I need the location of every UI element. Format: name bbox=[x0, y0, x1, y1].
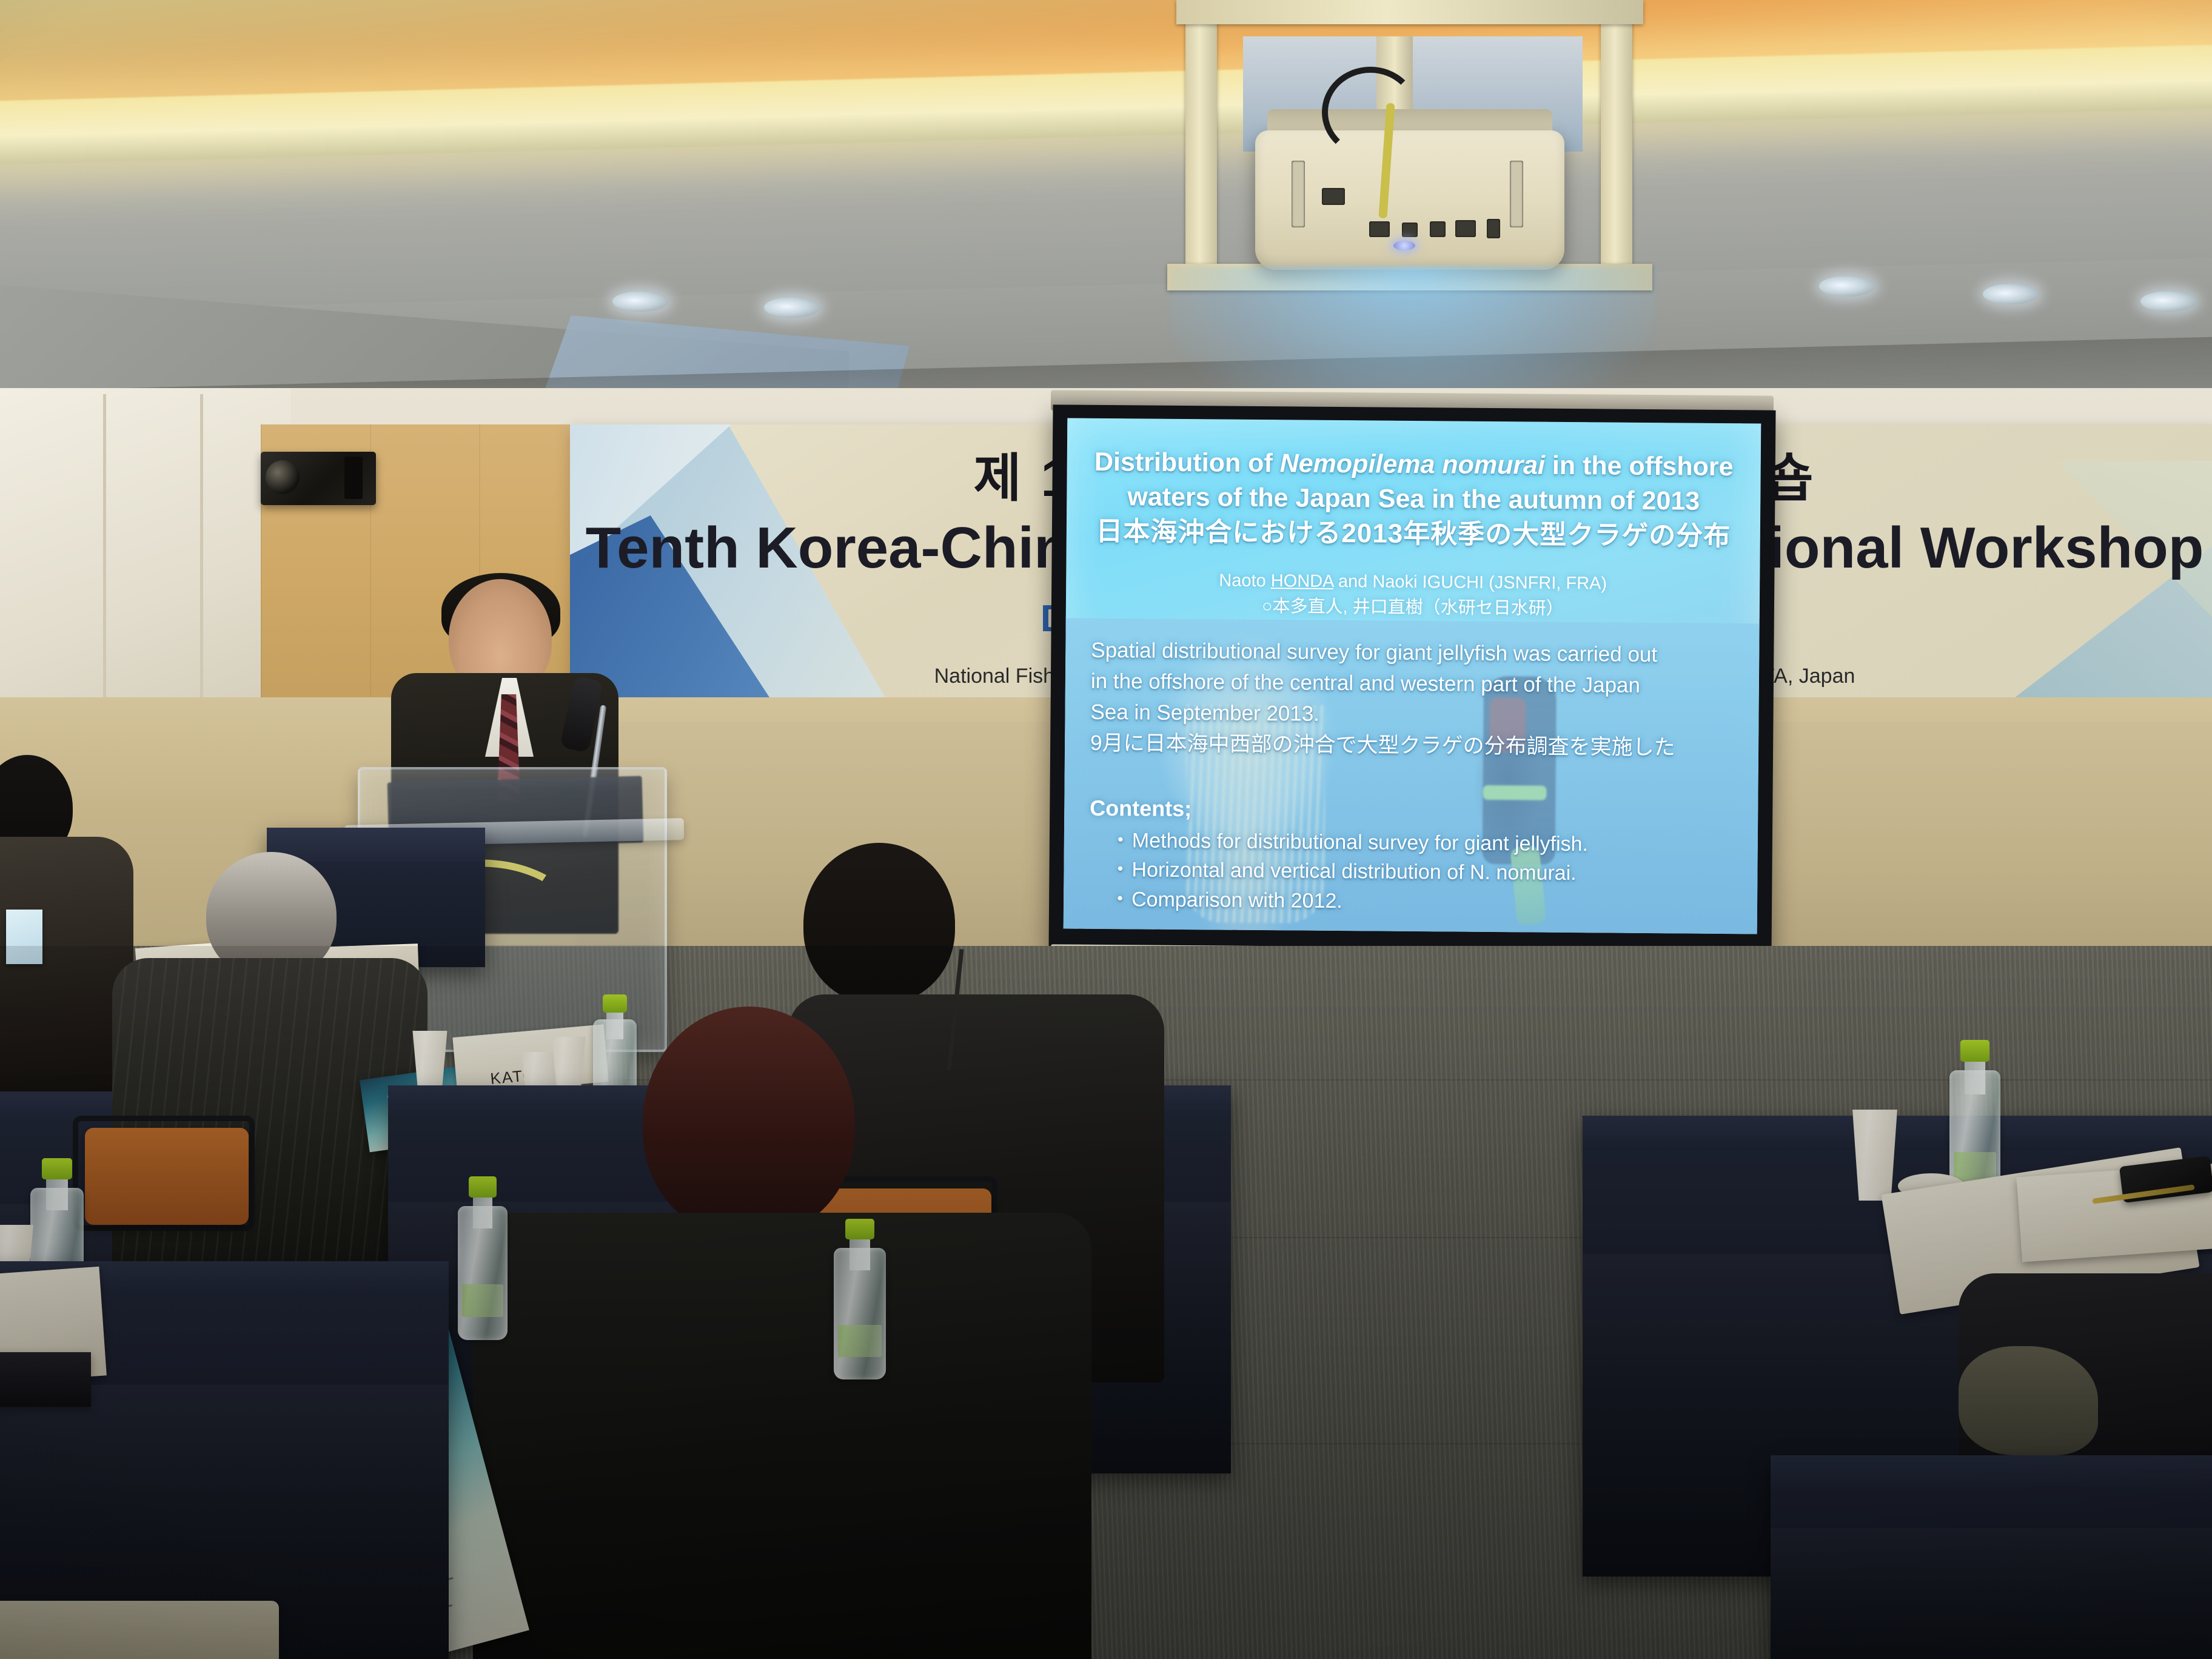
bottle-cap bbox=[42, 1158, 72, 1179]
slide-title-post: in the offshore bbox=[1545, 451, 1734, 481]
bottle-neck bbox=[46, 1175, 67, 1210]
author-post: and Naoki IGUCHI (JSNFRI, FRA) bbox=[1333, 572, 1607, 594]
ceiling-downlight-icon bbox=[1983, 284, 2039, 304]
projector-port-lan bbox=[1455, 220, 1476, 237]
table-top bbox=[267, 828, 485, 862]
projector-port-audio bbox=[1430, 221, 1446, 237]
slide-body-line-1: Spatial distributional survey for giant … bbox=[1091, 635, 1740, 670]
wall-speaker-icon bbox=[261, 452, 376, 505]
bottle-neck bbox=[473, 1193, 493, 1228]
projector-port-hdmi bbox=[1369, 221, 1390, 237]
audience-head bbox=[643, 1007, 855, 1237]
slide-title: Distribution of Nemopilema nomurai in th… bbox=[1093, 445, 1734, 554]
bottle-label bbox=[838, 1325, 882, 1357]
slide-body-line-3: Sea in September 2013. bbox=[1090, 697, 1739, 732]
author-pre: Naoto bbox=[1219, 571, 1271, 591]
projector-cable bbox=[1322, 67, 1419, 158]
bottle-neck bbox=[1965, 1057, 1985, 1094]
projector-vent bbox=[1510, 161, 1523, 227]
chair-seat[interactable] bbox=[85, 1128, 249, 1225]
projector-rail-right bbox=[1601, 0, 1632, 279]
bottle-neck bbox=[850, 1235, 870, 1270]
audience-table-front-right bbox=[1771, 1455, 2212, 1659]
bottle-label bbox=[462, 1284, 504, 1317]
table-top bbox=[1771, 1455, 2212, 1489]
projector-vent bbox=[1292, 161, 1305, 227]
table-top bbox=[1583, 1116, 2212, 1150]
bottle-cap bbox=[845, 1219, 874, 1239]
projector-rail-left bbox=[1185, 0, 1217, 279]
projector-port-vga bbox=[1322, 188, 1345, 205]
audience-torso bbox=[473, 1213, 1091, 1659]
audience-knee bbox=[1959, 1346, 2098, 1455]
bottle-neck bbox=[606, 1008, 624, 1039]
slide-title-species: Nemopilema nomurai bbox=[1280, 449, 1546, 480]
ceiling-downlight-icon bbox=[1819, 276, 1875, 297]
audience-head bbox=[803, 843, 955, 1004]
slide-body-line-2: in the offshore of the central and weste… bbox=[1091, 666, 1740, 701]
ceiling-downlight-icon bbox=[2140, 291, 2196, 312]
slide-title-japanese: 日本海沖合における2013年秋季の大型クラゲの分布 bbox=[1093, 514, 1734, 554]
bottle-cap bbox=[469, 1176, 497, 1198]
slide-bullet: Methods for distributional survey for gi… bbox=[1110, 826, 1741, 860]
bottle-cap bbox=[603, 994, 627, 1013]
speaker-port-slot bbox=[344, 457, 363, 499]
slide-authors-japanese: ○本多直人, 井口直樹（水研セ日水研） bbox=[1093, 592, 1733, 623]
slide-contents-list: Methods for distributional survey for gi… bbox=[1110, 826, 1741, 919]
slide-body-text: Spatial distributional survey for giant … bbox=[1090, 635, 1740, 764]
bottle-cap bbox=[1960, 1040, 1989, 1062]
projector-rail-top bbox=[1176, 0, 1643, 24]
tote-bag bbox=[0, 1601, 279, 1659]
slide-authors: Naoto HONDA and Naoki IGUCHI (JSNFRI, FR… bbox=[1093, 567, 1734, 623]
slide-body-line-4-japanese: 9月に日本海中西部の沖合で大型クラゲの分布調査を実施した bbox=[1090, 728, 1739, 763]
slide-bullet: Comparison with 2012. bbox=[1110, 885, 1740, 919]
water-bottle[interactable] bbox=[458, 1176, 508, 1340]
ceiling-downlight-icon bbox=[612, 291, 668, 312]
presentation-slide: Distribution of Nemopilema nomurai in th… bbox=[1064, 418, 1761, 934]
water-bottle[interactable] bbox=[834, 1219, 886, 1379]
speaker-cone-icon bbox=[266, 460, 300, 494]
notebook-dark[interactable] bbox=[0, 1352, 91, 1407]
window-mullion bbox=[103, 394, 106, 722]
lanyard-badge bbox=[6, 910, 42, 964]
projector-port-usb bbox=[1402, 223, 1418, 237]
table-cloth-drape bbox=[1771, 1528, 2212, 1659]
ceiling-downlight-icon bbox=[764, 297, 820, 318]
slide-title-pre: Distribution of bbox=[1094, 447, 1280, 478]
slide-contents-heading: Contents; bbox=[1090, 796, 1191, 822]
author-surname: HONDA bbox=[1271, 571, 1333, 591]
projector-power-led-icon bbox=[1393, 241, 1415, 250]
projector-port-serial bbox=[1487, 219, 1500, 238]
slide-title-line2: waters of the Japan Sea in the autumn of… bbox=[1093, 480, 1734, 519]
left-white-wall-panel bbox=[0, 388, 291, 728]
slide-bullet: Horizontal and vertical distribution of … bbox=[1110, 855, 1740, 889]
photo-scene: 제 10차 한·중·일 해파리 국제 워크숍 Tenth Korea-China… bbox=[0, 0, 2212, 1659]
window-mullion bbox=[200, 394, 203, 722]
